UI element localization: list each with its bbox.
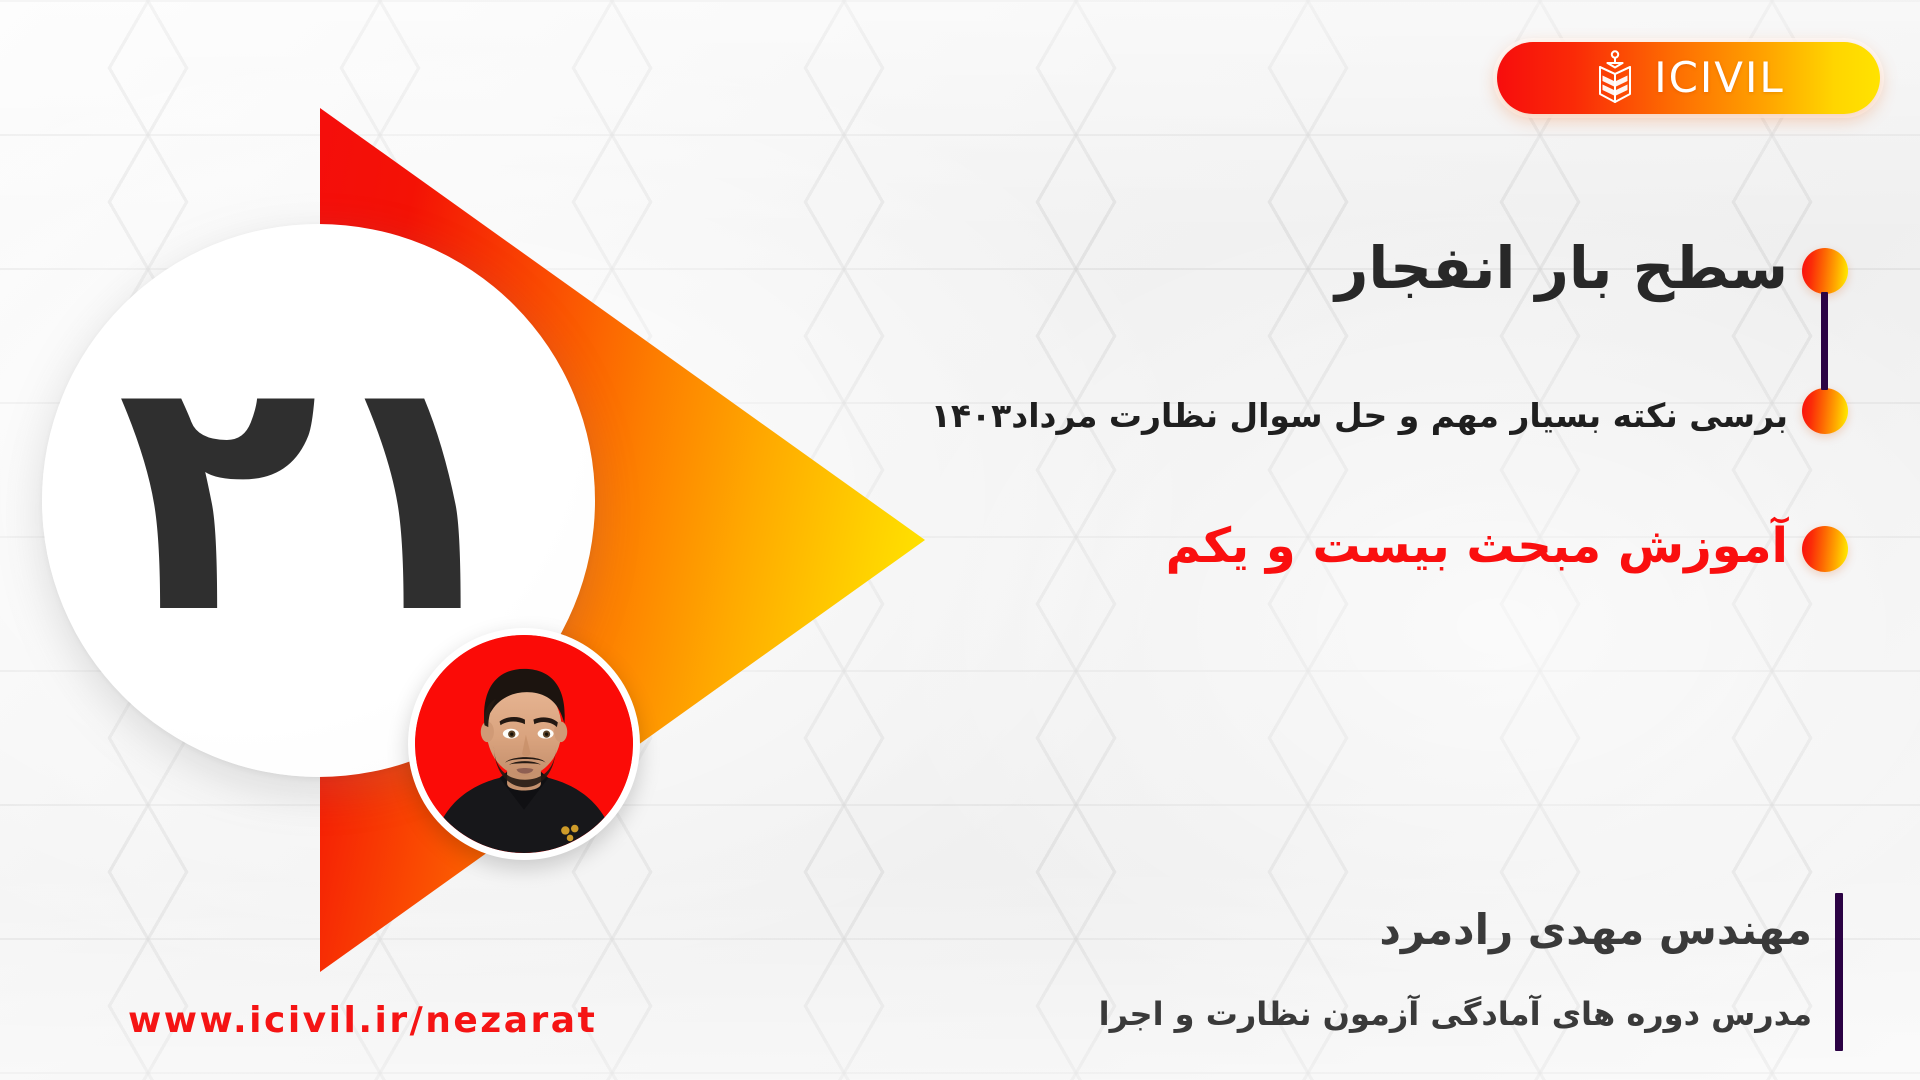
episode-number: ۲۱ [117,366,520,623]
presenter-accent-bar [1835,893,1843,1051]
page-title: سطح بار انفجار [1335,234,1788,302]
avatar [408,628,640,860]
page-highlight: آموزش مبحث بیست و یکم [1166,518,1788,574]
bullet-dot-title [1802,248,1848,294]
bullet-dot-subtitle [1802,388,1848,434]
presenter-role: مدرس دوره های آمادگی آزمون نظارت و اجرا [1099,995,1812,1033]
content-column: سطح بار انفجار برسی نکته بسیار مهم و حل … [820,0,1920,1080]
bullet-dot-highlight [1802,526,1848,572]
page-subtitle: برسی نکته بسیار مهم و حل سوال نظارت مردا… [931,396,1788,435]
website-url[interactable]: www.icivil.ir/nezarat [128,1000,597,1041]
course-thumbnail-poster: ۲۱ [0,0,1920,1080]
presenter-name: مهندس مهدی رادمرد [1379,905,1812,954]
bullet-connector-line [1821,292,1828,390]
